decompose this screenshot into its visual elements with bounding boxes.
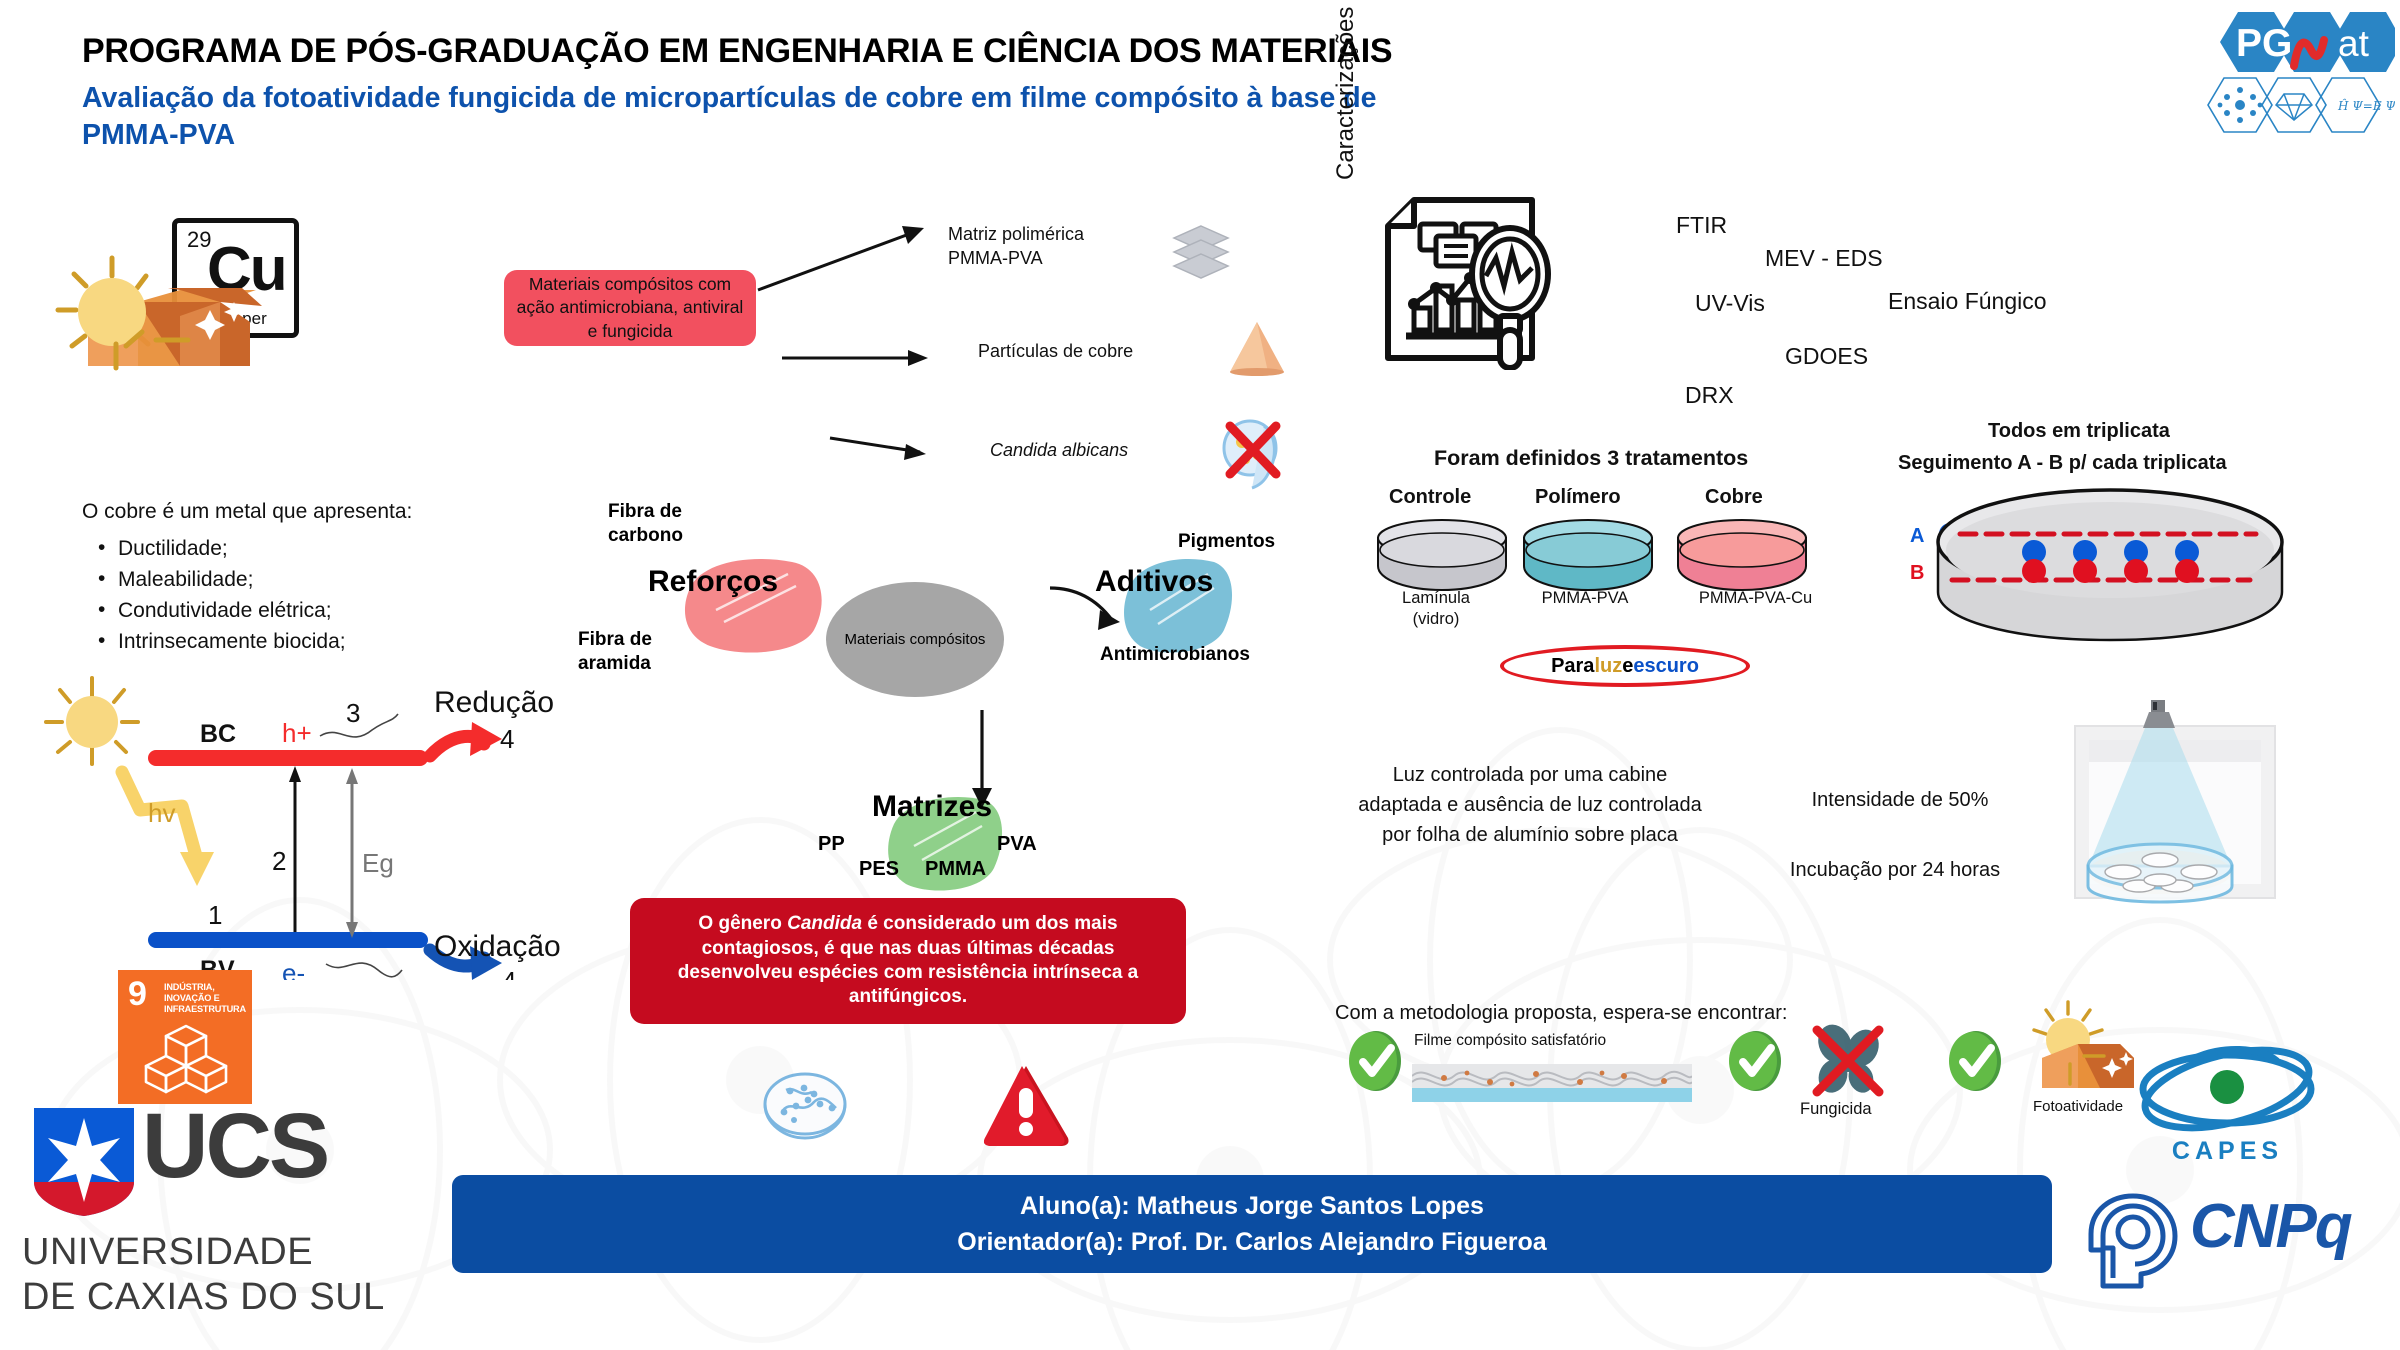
mindmap-branch-aditivos: Aditivos: [1095, 565, 1213, 599]
list-item: Maleabilidade;: [96, 565, 346, 596]
ucs-line2: DE CAXIAS DO SUL: [22, 1276, 385, 1318]
legend-a-label: A: [1910, 525, 1924, 548]
mindmap-leaf-fibra-carbono: Fibra decarbono: [608, 500, 683, 547]
flow-item-candida: Candida albicans: [990, 440, 1128, 461]
ucs-fullname: UNIVERSIDADE DE CAXIAS DO SUL: [22, 1230, 385, 1320]
mindmap-leaf-antimicrobianos: Antimicrobianos: [1100, 643, 1250, 667]
mindmap-leaf-fibra-aramida: Fibra dearamida: [578, 628, 652, 675]
no-fungus-icon-2: [1805, 1020, 1891, 1102]
treatments-title: Foram definidos 3 tratamentos: [1434, 446, 1748, 471]
ld-prefix: Para: [1551, 655, 1594, 678]
check-icon-1: [1348, 1028, 1404, 1094]
light-cabinet-illustration: [2065, 700, 2285, 930]
capes-wordmark: CAPES: [2135, 1137, 2320, 1166]
sdg-number: 9: [128, 978, 147, 1010]
expected-label-2: Fungicida: [1800, 1100, 1872, 1119]
sdg-text: INDÚSTRIA, INOVAÇÃO E INFRAESTRUTURA: [164, 982, 252, 1015]
step-3a: 3: [346, 698, 360, 728]
treatment-name-polimero: Polímero: [1535, 486, 1621, 509]
list-item: Intrinsecamente biocida;: [96, 627, 346, 658]
step-4b: 4: [502, 966, 516, 980]
mindmap-leaf-pp: PP: [818, 833, 845, 856]
flow-item-particles: Partículas de cobre: [978, 341, 1133, 362]
warning-triangle-icon: [980, 1060, 1072, 1148]
ucs-shield-icon: [32, 1106, 136, 1218]
student-name: Aluno(a): Matheus Jorge Santos Lopes: [1020, 1188, 1484, 1224]
ucs-logo: UCS UNIVERSIDADE DE CAXIAS DO SUL: [18, 1108, 438, 1338]
oxidation-label: Oxidação: [434, 930, 561, 963]
treatment-dish-controle: [1372, 516, 1512, 596]
step-1: 1: [208, 900, 222, 930]
mindmap-branch-matrizes: Matrizes: [872, 790, 992, 824]
capes-logo: CAPES: [2135, 1045, 2320, 1170]
electron-label: e-: [282, 958, 305, 980]
treatment-sub-controle: Lamínula(vidro): [1371, 588, 1501, 629]
svg-text:PG: PG: [2236, 22, 2292, 65]
program-title: PROGRAMA DE PÓS-GRADUAÇÃO EM ENGENHARIA …: [82, 32, 1982, 71]
list-item: Condutividade elétrica;: [96, 596, 346, 627]
triplicate-line2: Seguimento A - B p/ cada triplicata: [1898, 452, 2227, 475]
mindmap-branch-reforcos: Reforços: [648, 565, 778, 599]
flow-item-matrix: Matriz poliméricaPMMA-PVA: [948, 222, 1084, 271]
technique-drx: DRX: [1685, 382, 1734, 409]
expected-lead-in: Com a metodologia proposta, espera-se en…: [1335, 1002, 1787, 1025]
triplicate-petri-plate: [1930, 480, 2290, 645]
no-fungus-icon: [1216, 412, 1290, 492]
technique-ensaio-fungico: Ensaio Fúngico: [1888, 288, 2047, 315]
layers-icon: [1172, 222, 1230, 280]
light-cabinet-text: Luz controlada por uma cabine adaptada e…: [1355, 760, 1705, 850]
flow-arrows: [752, 200, 952, 470]
mindmap-leaf-pes: PES: [859, 858, 899, 881]
poster-canvas: PROGRAMA DE PÓS-GRADUAÇÃO EM ENGENHARIA …: [0, 0, 2400, 1350]
ld-light: luz: [1594, 655, 1622, 678]
petri-bacteria-icon: [760, 1068, 850, 1150]
candida-warning-text: O gênero Candida é considerado um dos ma…: [644, 912, 1172, 1009]
expected-label-1: Filme compósito satisfatório: [1414, 1032, 1606, 1050]
treatment-dish-polimero: [1518, 516, 1658, 596]
technique-ftir: FTIR: [1676, 212, 1727, 239]
cnpq-logo: CNPq: [2085, 1190, 2385, 1295]
technique-uv-vis: UV-Vis: [1695, 290, 1765, 317]
copper-property-list: Ductilidade; Maleabilidade; Condutividad…: [96, 534, 346, 657]
ld-mid: e: [1622, 655, 1633, 678]
svg-text:at: at: [2338, 23, 2370, 64]
copper-ingot-sun-illustration: [20, 240, 300, 390]
incubation-text: Incubação por 24 horas: [1725, 855, 2065, 885]
mindmap-leaf-pmma: PMMA: [925, 858, 986, 881]
reduction-label: Redução: [434, 686, 554, 719]
composite-film-icon: [1412, 1056, 1692, 1104]
copper-lead-in: O cobre é um metal que apresenta:: [82, 500, 412, 524]
technique-gdoes: GDOES: [1785, 343, 1868, 370]
sdg-9-badge: 9 INDÚSTRIA, INOVAÇÃO E INFRAESTRUTURA: [118, 970, 252, 1104]
bc-label: BC: [200, 720, 236, 748]
valence-band-bar: [148, 932, 428, 948]
technique-mev-eds: MEV - EDS: [1765, 245, 1883, 272]
light-intensity-text: Intensidade de 50%: [1740, 785, 2060, 815]
ucs-acronym: UCS: [142, 1100, 327, 1192]
cnpq-emblem-icon: [2085, 1190, 2185, 1290]
treatment-sub-cobre: PMMA-PVA-Cu: [1663, 588, 1848, 609]
check-icon-2: [1728, 1028, 1784, 1094]
svg-text:Ĥ Ψ=E Ψ: Ĥ Ψ=E Ψ: [2337, 98, 2395, 113]
mindmap-leaf-pva: PVA: [997, 833, 1037, 856]
treatment-name-cobre: Cobre: [1705, 486, 1763, 509]
treatment-sub-polimero: PMMA-PVA: [1510, 588, 1660, 609]
mindmap-center: Materiais compósitos: [826, 582, 1004, 697]
treatment-dish-cobre: [1672, 516, 1812, 596]
check-icon-3: [1948, 1028, 2004, 1094]
footer-banner: Aluno(a): Matheus Jorge Santos Lopes Ori…: [452, 1175, 2052, 1273]
capes-atom-icon: [2135, 1045, 2320, 1140]
mindmap-leaf-pigmentos: Pigmentos: [1178, 530, 1275, 554]
advisor-name: Orientador(a): Prof. Dr. Carlos Alejandr…: [957, 1224, 1546, 1260]
legend-b-label: B: [1910, 562, 1924, 585]
gap-label: Eg: [362, 848, 394, 878]
pgmat-logo: Ĥ Ψ=E Ψ PG at: [2190, 6, 2395, 146]
photon-label: hv: [148, 798, 175, 828]
candida-warning-box: O gênero Candida é considerado um dos ma…: [630, 898, 1186, 1024]
analysis-chart-icon: [1380, 190, 1570, 370]
treatment-name-controle: Controle: [1389, 486, 1471, 509]
step-4a: 4: [500, 724, 514, 754]
band-gap-diagram: BC BV hv h+ e- Eg 2 1 3 3 4 4 Redução Ox…: [10, 660, 610, 980]
conduction-band-bar: [148, 750, 428, 766]
sun-copper-icon: [2016, 1000, 2136, 1100]
powder-pile-icon: [1226, 320, 1288, 376]
cubes-icon: [144, 1022, 228, 1096]
poster-subtitle: Avaliação da fotoatividade fungicida de …: [82, 80, 1412, 154]
ucs-line1: UNIVERSIDADE: [22, 1231, 313, 1273]
hole-label: h+: [282, 718, 312, 748]
list-item: Ductilidade;: [96, 534, 346, 565]
ld-dark: escuro: [1633, 655, 1699, 678]
expected-label-3: Fotoatividade: [2033, 1098, 2123, 1115]
cnpq-wordmark: CNPq: [2190, 1196, 2351, 1258]
characterizations-label: Caracterizações: [1332, 0, 1360, 180]
step-2: 2: [272, 846, 286, 876]
triplicate-line1: Todos em triplicata: [1988, 420, 2170, 443]
composite-callout-box: Materiais compósitos com ação antimicrob…: [504, 270, 756, 346]
light-dark-label: Para luz e escuro: [1500, 645, 1750, 687]
